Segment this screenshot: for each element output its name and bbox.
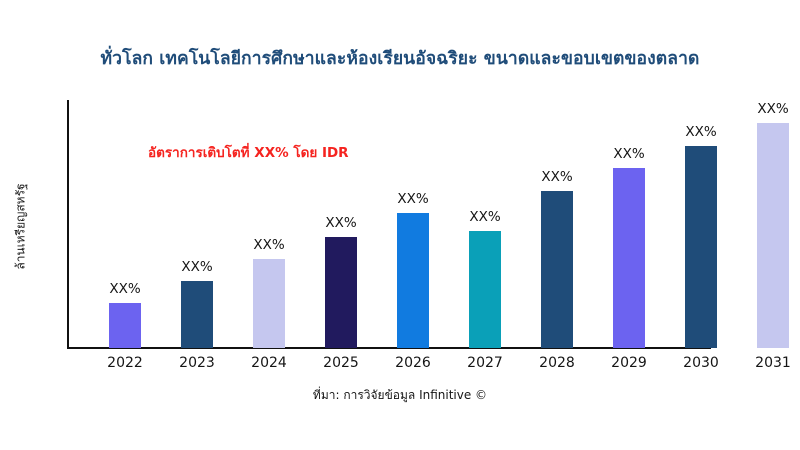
bar-2028[interactable] bbox=[541, 191, 573, 348]
bar-2031[interactable] bbox=[757, 123, 789, 348]
bar-2023[interactable] bbox=[181, 281, 213, 348]
x-tick-label-2031: 2031 bbox=[738, 355, 800, 371]
bar-2029[interactable] bbox=[613, 168, 645, 348]
bar-value-label-2030: XX% bbox=[666, 124, 736, 140]
bar-value-label-2031: XX% bbox=[738, 101, 800, 117]
x-tick-label-2022: 2022 bbox=[90, 355, 160, 371]
bar-2022[interactable] bbox=[109, 303, 141, 348]
bar-2025[interactable] bbox=[325, 237, 357, 348]
x-tick-label-2024: 2024 bbox=[234, 355, 304, 371]
growth-annotation: อัตราการเติบโตที่ XX% โดย IDR bbox=[148, 141, 349, 163]
bar-value-label-2026: XX% bbox=[378, 191, 448, 207]
bar-2026[interactable] bbox=[397, 213, 429, 348]
chart-canvas: ทั่วโลก เทคโนโลยีการศึกษาและห้องเรียนอัจ… bbox=[0, 0, 800, 450]
x-tick-label-2026: 2026 bbox=[378, 355, 448, 371]
y-axis-line bbox=[67, 100, 69, 349]
x-tick-label-2029: 2029 bbox=[594, 355, 664, 371]
x-tick-label-2023: 2023 bbox=[162, 355, 232, 371]
x-tick-label-2030: 2030 bbox=[666, 355, 736, 371]
bar-2024[interactable] bbox=[253, 259, 285, 348]
plot-area: ล้านเหรียญสหรัฐ XX%2022XX%2023XX%2024XX%… bbox=[0, 0, 800, 450]
bar-value-label-2027: XX% bbox=[450, 209, 520, 225]
y-axis-label: ล้านเหรียญสหรัฐ bbox=[12, 132, 31, 322]
bar-value-label-2029: XX% bbox=[594, 146, 664, 162]
x-tick-label-2028: 2028 bbox=[522, 355, 592, 371]
bar-value-label-2028: XX% bbox=[522, 169, 592, 185]
x-tick-label-2027: 2027 bbox=[450, 355, 520, 371]
bar-value-label-2025: XX% bbox=[306, 215, 376, 231]
bar-value-label-2022: XX% bbox=[90, 281, 160, 297]
bar-2027[interactable] bbox=[469, 231, 501, 348]
bar-2030[interactable] bbox=[685, 146, 717, 348]
x-tick-label-2025: 2025 bbox=[306, 355, 376, 371]
bar-value-label-2023: XX% bbox=[162, 259, 232, 275]
source-note: ที่มา: การวิจัยข้อมูล Infinitive © bbox=[0, 386, 800, 405]
bar-value-label-2024: XX% bbox=[234, 237, 304, 253]
